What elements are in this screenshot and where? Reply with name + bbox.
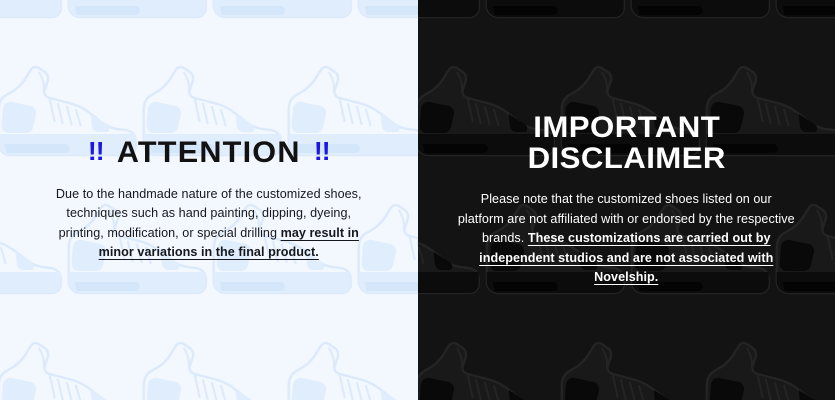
disclaimer-heading-line2: DISCLAIMER (436, 143, 816, 174)
attention-heading: !! ATTENTION !! (22, 137, 395, 169)
exclamation-left-icon: !! (88, 138, 104, 165)
attention-panel: !! ATTENTION !! Due to the handmade natu… (0, 0, 418, 400)
disclaimer-panel: IMPORTANT DISCLAIMER Please note that th… (418, 0, 835, 400)
attention-body: Due to the handmade nature of the custom… (26, 185, 392, 263)
disclaimer-heading: IMPORTANT DISCLAIMER (444, 112, 810, 174)
attention-content: !! ATTENTION !! Due to the handmade natu… (0, 137, 418, 263)
disclaimer-heading-line1: IMPORTANT (436, 112, 816, 143)
exclamation-right-icon: !! (314, 138, 330, 165)
disclaimer-body: Please note that the customized shoes li… (444, 190, 810, 288)
disclaimer-content: IMPORTANT DISCLAIMER Please note that th… (418, 112, 835, 288)
attention-title: ATTENTION (117, 137, 301, 169)
promo-banner: !! ATTENTION !! Due to the handmade natu… (0, 0, 835, 400)
